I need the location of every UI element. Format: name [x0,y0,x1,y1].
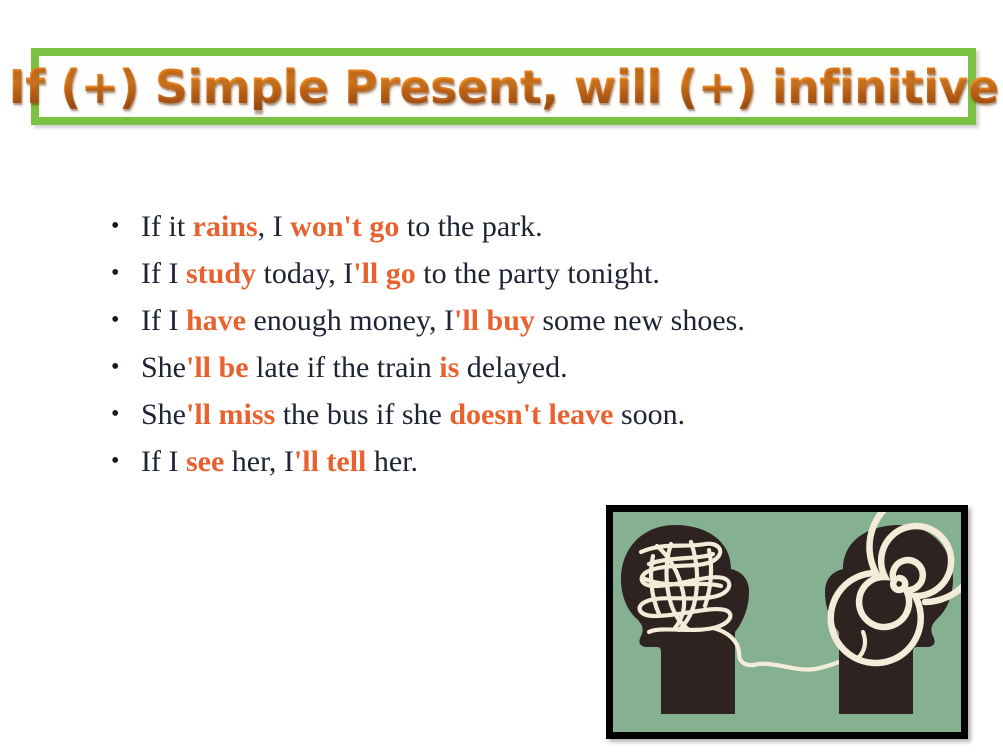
sentence-text: She [141,351,186,384]
examples-list: If it rains, I won't go to the park.If I… [108,210,928,492]
highlighted-verb: 'll buy [454,304,535,337]
example-sentence: She'll miss the bus if she doesn't leave… [108,398,928,432]
sentence-text: some new shoes. [535,304,745,337]
highlighted-verb: is [439,351,459,384]
sentence-text: to the party tonight. [416,257,660,290]
sentence-text: soon. [613,398,685,431]
highlighted-verb: 'll go [353,257,416,290]
sentence-text: the bus if she [275,398,449,431]
sentence-text: If I [141,445,186,478]
sentence-text: If it [141,210,193,243]
example-sentence: If it rains, I won't go to the park. [108,210,928,244]
sentence-text: If I [141,257,186,290]
sentence-text: her, I [224,445,294,478]
sentence-text: today, I [256,257,353,290]
sentence-text: She [141,398,186,431]
highlighted-verb: 'll miss [186,398,275,431]
sentence-text: delayed. [459,351,567,384]
sentence-text: to the park. [399,210,542,243]
example-sentence: If I see her, I'll tell her. [108,445,928,479]
sentence-text: If I [141,304,186,337]
sentence-text: , I [258,210,291,243]
sentence-text: late if the train [249,351,440,384]
communication-illustration [606,505,968,739]
highlighted-verb: 'll tell [294,445,366,478]
example-sentence: She'll be late if the train is delayed. [108,351,928,385]
highlighted-verb: rains [193,210,258,243]
two-heads-illustration-svg [613,512,961,732]
page-title: If (+) Simple Present, will (+) infiniti… [8,64,998,110]
highlighted-verb: have [186,304,246,337]
highlighted-verb: doesn't leave [449,398,613,431]
sentence-text: enough money, I [246,304,454,337]
highlighted-verb: see [186,445,224,478]
title-banner: If (+) Simple Present, will (+) infiniti… [31,48,976,125]
highlighted-verb: won't go [290,210,399,243]
sentence-text: her. [366,445,418,478]
example-sentence: If I have enough money, I'll buy some ne… [108,304,928,338]
highlighted-verb: study [186,257,256,290]
highlighted-verb: 'll be [186,351,249,384]
example-sentence: If I study today, I'll go to the party t… [108,257,928,291]
